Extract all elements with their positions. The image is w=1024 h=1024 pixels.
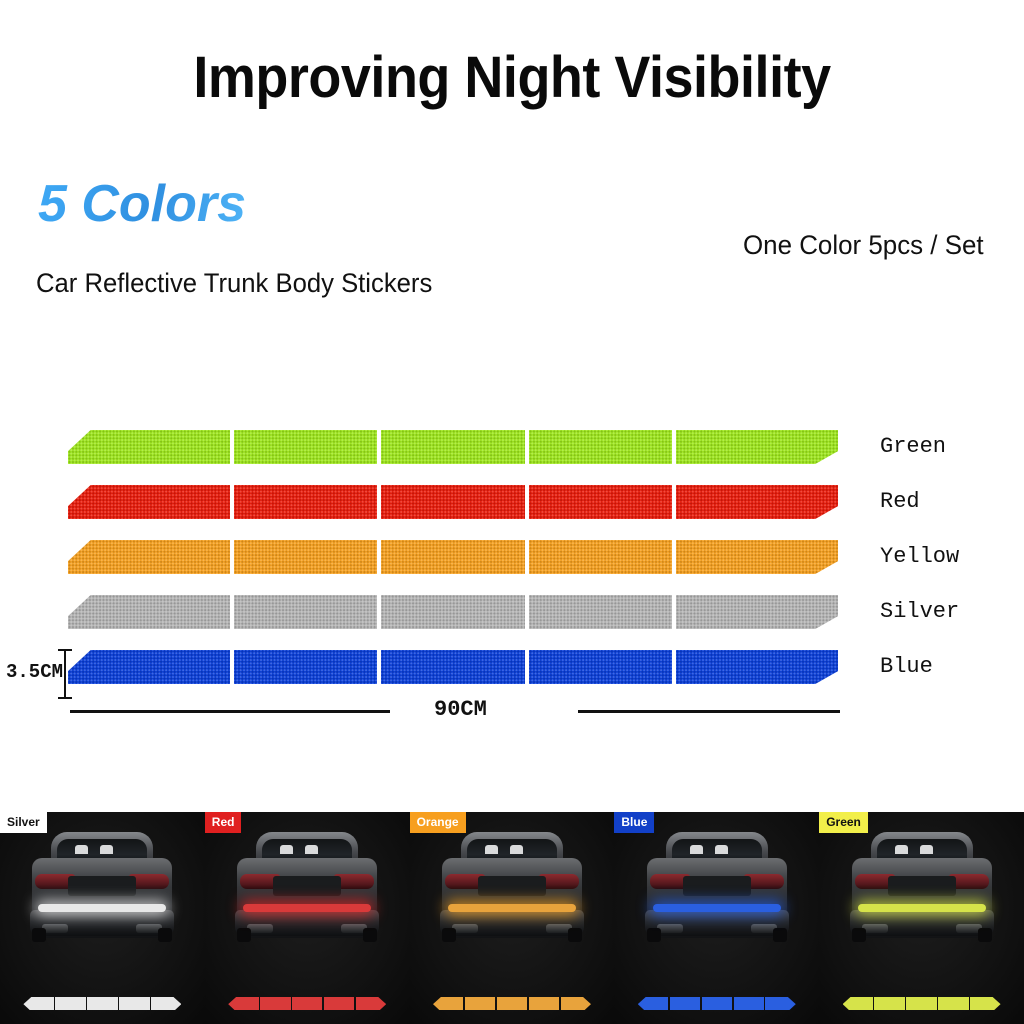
headrest-left [280, 845, 293, 854]
strip-segment [529, 595, 672, 629]
license-plate-recess [888, 876, 956, 896]
sample-segment [87, 997, 117, 1010]
sample-segment [874, 997, 904, 1010]
license-plate-recess [683, 876, 751, 896]
reflective-strip-green [68, 430, 838, 464]
strip-segment [234, 595, 377, 629]
sample-segment [433, 997, 463, 1010]
tyre-left [32, 928, 46, 942]
headrest-right [510, 845, 523, 854]
vehicle-photo-red: Red [205, 812, 410, 1024]
sample-segment [970, 997, 1000, 1010]
colors-count-heading: 5 Colors [38, 178, 246, 230]
sample-segment [906, 997, 936, 1010]
license-plate-recess [273, 876, 341, 896]
applied-reflective-strip [653, 904, 781, 912]
product-strip-sample-blue [638, 997, 796, 1010]
sample-segment [638, 997, 668, 1010]
strip-segment [676, 430, 838, 464]
sample-segment [324, 997, 354, 1010]
strip-segment [234, 485, 377, 519]
tyre-right [363, 928, 377, 942]
color-badge-silver: Silver [0, 812, 47, 833]
dimension-cap-bottom [58, 697, 72, 699]
tyre-left [852, 928, 866, 942]
applied-reflective-strip [448, 904, 576, 912]
product-infographic: Improving Night Visibility 5 Colors Car … [0, 0, 1024, 1024]
car-rear-illustration [18, 828, 186, 952]
sample-segment [228, 997, 258, 1010]
tyre-left [647, 928, 661, 942]
strip-segment [676, 650, 838, 684]
sample-segment [938, 997, 968, 1010]
sample-segment [765, 997, 795, 1010]
strip-segment [529, 485, 672, 519]
sample-segment [356, 997, 386, 1010]
strip-segment [676, 485, 838, 519]
product-strip-sample-silver [23, 997, 181, 1010]
headrest-right [920, 845, 933, 854]
car-rear-illustration [428, 828, 596, 952]
strip-segment [68, 485, 230, 519]
applied-reflective-strip [243, 904, 371, 912]
strip-color-label-yellow: Yellow [880, 540, 959, 574]
headrest-right [305, 845, 318, 854]
color-badge-green: Green [819, 812, 868, 833]
car-rear-illustration [223, 828, 391, 952]
reflective-strip-blue [68, 650, 838, 684]
sample-segment [702, 997, 732, 1010]
strip-segment [676, 540, 838, 574]
page-title: Improving Night Visibility [36, 48, 988, 109]
strip-segment [381, 595, 524, 629]
reflective-strip-silver [68, 595, 838, 629]
sample-segment [529, 997, 559, 1010]
sample-segment [561, 997, 591, 1010]
strip-segment [234, 650, 377, 684]
sample-segment [23, 997, 53, 1010]
set-quantity-note: One Color 5pcs / Set [743, 232, 984, 259]
length-dimension-line-right [578, 710, 840, 713]
sample-segment [670, 997, 700, 1010]
vehicle-photo-blue: Blue [614, 812, 819, 1024]
tyre-right [568, 928, 582, 942]
strip-segment [234, 430, 377, 464]
headrest-left [75, 845, 88, 854]
strip-segment [68, 540, 230, 574]
length-dimension-label: 90CM [434, 699, 487, 721]
sample-segment [260, 997, 290, 1010]
strip-color-label-silver: Silver [880, 595, 959, 629]
tyre-left [237, 928, 251, 942]
strip-segment [68, 650, 230, 684]
strip-segment [529, 650, 672, 684]
vehicle-photo-silver: Silver [0, 812, 205, 1024]
vehicle-photo-green: Green [819, 812, 1024, 1024]
strip-segment [381, 430, 524, 464]
headrest-left [485, 845, 498, 854]
strip-segment [381, 485, 524, 519]
tyre-right [773, 928, 787, 942]
strip-segment [381, 540, 524, 574]
length-dimension-line-left [70, 710, 390, 713]
strip-color-label-red: Red [880, 485, 920, 519]
sample-segment [734, 997, 764, 1010]
sample-segment [55, 997, 85, 1010]
applied-reflective-strip [38, 904, 166, 912]
applied-reflective-strip [858, 904, 986, 912]
strip-color-label-blue: Blue [880, 650, 933, 684]
strip-color-label-green: Green [880, 430, 946, 464]
strip-segment [529, 430, 672, 464]
strip-segment [68, 595, 230, 629]
headrest-left [690, 845, 703, 854]
car-rear-illustration [633, 828, 801, 952]
product-subtitle: Car Reflective Trunk Body Stickers [36, 270, 432, 297]
height-dimension-label: 3.5CM [6, 663, 63, 682]
color-badge-orange: Orange [410, 812, 466, 833]
car-rear-illustration [838, 828, 1006, 952]
license-plate-recess [478, 876, 546, 896]
headrest-left [895, 845, 908, 854]
vehicle-photo-orange: Orange [410, 812, 615, 1024]
sample-segment [497, 997, 527, 1010]
tyre-left [442, 928, 456, 942]
strip-segment [234, 540, 377, 574]
dimension-bar-vertical [64, 651, 66, 697]
headrest-right [100, 845, 113, 854]
product-strip-sample-orange [433, 997, 591, 1010]
sample-segment [843, 997, 873, 1010]
strip-segment [381, 650, 524, 684]
reflective-strip-yellow [68, 540, 838, 574]
product-strip-sample-green [843, 997, 1001, 1010]
sample-segment [465, 997, 495, 1010]
reflective-strip-red [68, 485, 838, 519]
color-badge-blue: Blue [614, 812, 654, 833]
color-strip-diagram: GreenRedYellowSilverBlue [0, 430, 1024, 730]
sample-segment [151, 997, 181, 1010]
tyre-right [158, 928, 172, 942]
strip-segment [529, 540, 672, 574]
product-strip-sample-red [228, 997, 386, 1010]
tyre-right [978, 928, 992, 942]
color-badge-red: Red [205, 812, 242, 833]
headrest-right [715, 845, 728, 854]
strip-segment [68, 430, 230, 464]
license-plate-recess [68, 876, 136, 896]
vehicle-photo-gallery: SilverRedOrangeBlueGreen [0, 812, 1024, 1024]
strip-segment [676, 595, 838, 629]
sample-segment [292, 997, 322, 1010]
sample-segment [119, 997, 149, 1010]
